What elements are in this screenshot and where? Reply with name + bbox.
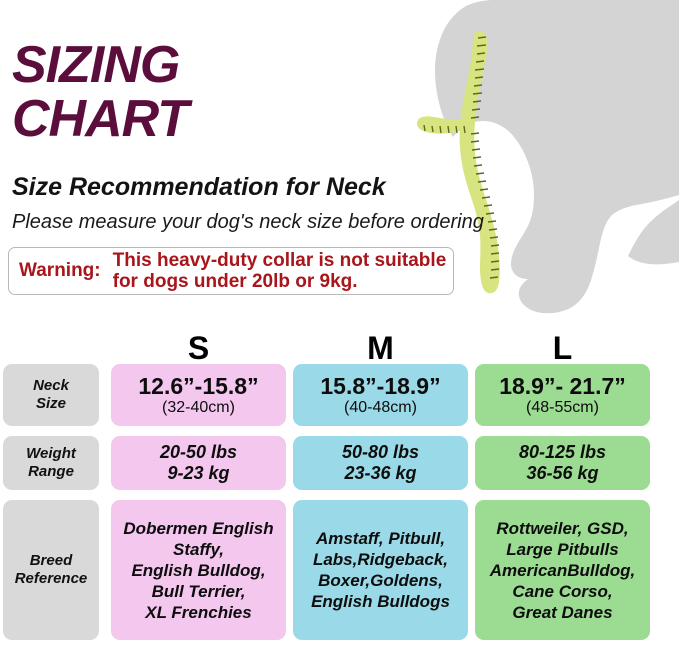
instruction-text: Please measure your dog's neck size befo… <box>12 211 484 234</box>
subtitle: Size Recommendation for Neck <box>12 173 386 202</box>
title-line-chart: CHART <box>12 92 412 146</box>
row-label-breed-reference: Breed Reference <box>3 500 99 640</box>
neck-size-medium-inches: 15.8”-18.9” <box>320 374 440 399</box>
neck-size-large-inches: 18.9”- 21.7” <box>499 374 626 399</box>
row-label-weight-range: Weight Range <box>3 436 99 490</box>
table-row-breed-reference: Breed Reference Dobermen English Staffy,… <box>0 500 679 640</box>
size-header-m: M <box>293 330 468 367</box>
weight-range-medium-kg: 23-36 kg <box>344 463 416 484</box>
neck-size-large-cm: (48-55cm) <box>526 399 599 417</box>
tape-ticks <box>424 37 499 278</box>
weight-range-small-kg: 9-23 kg <box>167 463 229 484</box>
dog-body-shape <box>435 0 679 313</box>
size-header-l: L <box>475 330 650 367</box>
breed-reference-small: Dobermen English Staffy, English Bulldog… <box>111 500 286 640</box>
size-header-row: S M L <box>0 330 679 364</box>
title-line-sizing: SIZING <box>12 38 412 92</box>
weight-range-medium: 50-80 lbs 23-36 kg <box>293 436 468 490</box>
neck-size-large: 18.9”- 21.7” (48-55cm) <box>475 364 650 426</box>
breed-reference-medium: Amstaff, Pitbull, Labs,Ridgeback, Boxer,… <box>293 500 468 640</box>
breed-reference-small-text: Dobermen English Staffy, English Bulldog… <box>117 518 279 623</box>
weight-range-large-lbs: 80-125 lbs <box>519 442 606 463</box>
warning-label: Warning: <box>19 260 101 282</box>
weight-range-large-kg: 36-56 kg <box>526 463 598 484</box>
breed-reference-large-text: Rottweiler, GSD, Large Pitbulls American… <box>484 518 641 623</box>
weight-range-small: 20-50 lbs 9-23 kg <box>111 436 286 490</box>
neck-size-small-cm: (32-40cm) <box>162 399 235 417</box>
warning-message: This heavy-duty collar is not suitable f… <box>113 250 447 292</box>
neck-size-small-inches: 12.6”-15.8” <box>138 374 258 399</box>
table-row-neck-size: Neck Size 12.6”-15.8” (32-40cm) 15.8”-18… <box>0 364 679 426</box>
size-table: S M L Neck Size 12.6”-15.8” (32-40cm) 15… <box>0 330 679 650</box>
neck-size-small: 12.6”-15.8” (32-40cm) <box>111 364 286 426</box>
row-label-neck-size: Neck Size <box>3 364 99 426</box>
breed-reference-medium-text: Amstaff, Pitbull, Labs,Ridgeback, Boxer,… <box>305 528 456 612</box>
weight-range-small-lbs: 20-50 lbs <box>160 442 237 463</box>
table-row-weight-range: Weight Range 20-50 lbs 9-23 kg 50-80 lbs… <box>0 436 679 490</box>
sizing-chart-page: SIZING CHART Size Recommendation for Nec… <box>0 0 679 672</box>
neck-size-medium-cm: (40-48cm) <box>344 399 417 417</box>
neck-size-medium: 15.8”-18.9” (40-48cm) <box>293 364 468 426</box>
page-title: SIZING CHART <box>12 38 412 146</box>
breed-reference-large: Rottweiler, GSD, Large Pitbulls American… <box>475 500 650 640</box>
weight-range-medium-lbs: 50-80 lbs <box>342 442 419 463</box>
size-header-s: S <box>111 330 286 367</box>
warning-box: Warning: This heavy-duty collar is not s… <box>8 247 454 295</box>
weight-range-large: 80-125 lbs 36-56 kg <box>475 436 650 490</box>
